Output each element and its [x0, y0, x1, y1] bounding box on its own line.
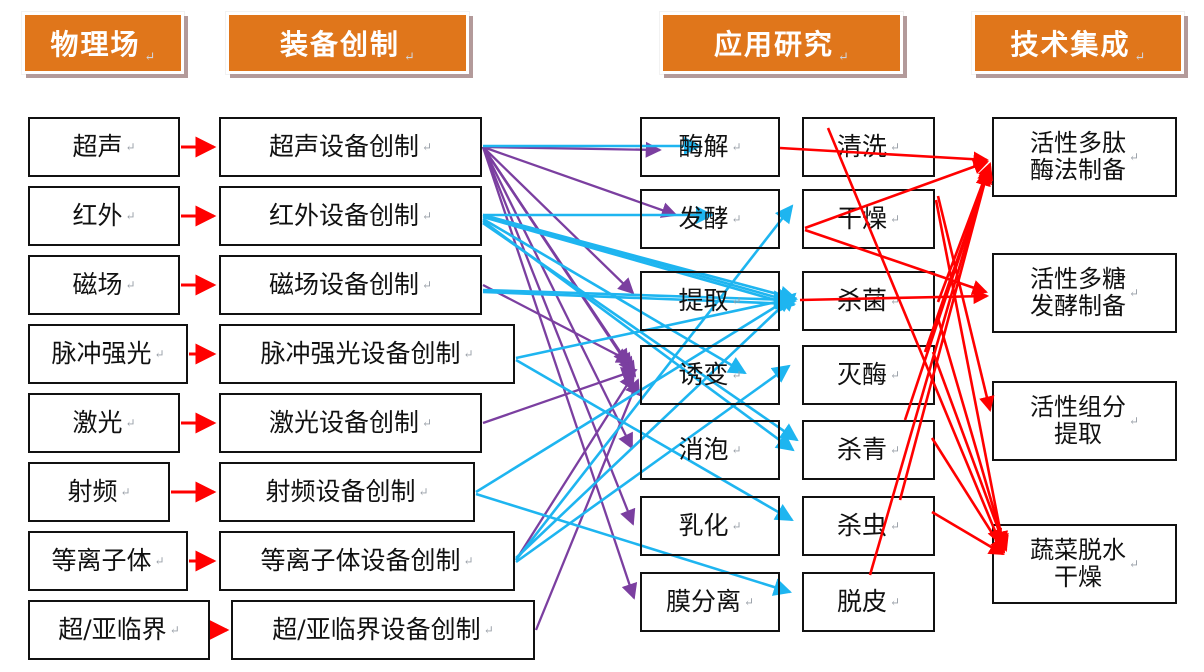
connector-wires-red-top: [0, 0, 1204, 672]
red-edge-group-to-integration: [780, 128, 1006, 575]
diagram-canvas: 物理场 ↵ 装备创制 ↵ 应用研究 ↵ 技术集成 ↵: [0, 0, 1204, 672]
